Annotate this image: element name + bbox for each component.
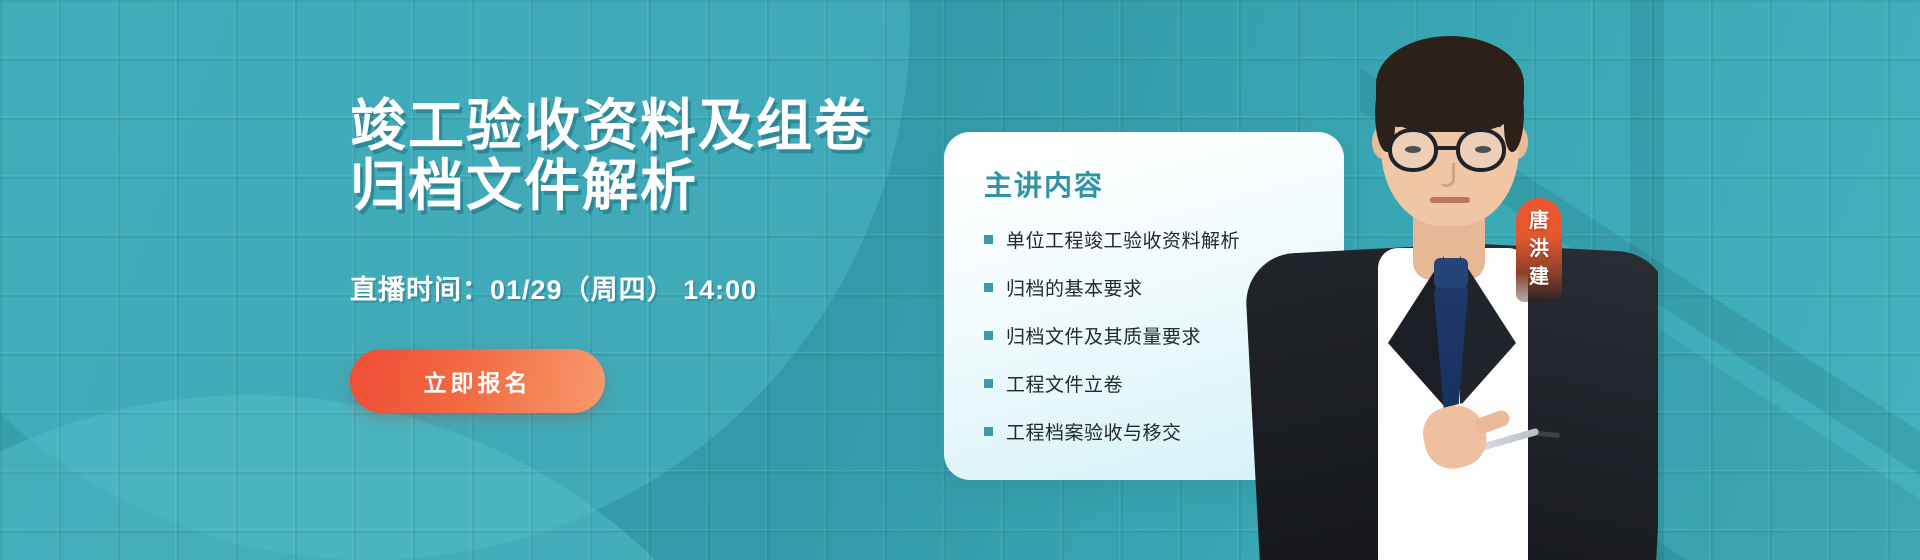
name-char: 唐 [1529,207,1549,235]
presenter-name-badge: 唐 洪 建 [1516,198,1562,302]
bullet-square-icon [984,379,993,388]
list-item-label: 工程档案验收与移交 [1006,418,1182,445]
glasses-lens-right [1456,128,1506,172]
list-item-label: 工程文件立卷 [1006,370,1123,397]
register-button[interactable]: 立即报名 [350,349,605,413]
presenter-nose [1441,163,1455,187]
name-char: 建 [1529,263,1549,291]
webinar-banner: 竣工验收资料及组卷 归档文件解析 直播时间：01/29（周四） 14:00 立即… [0,0,1920,560]
name-char: 洪 [1529,235,1549,263]
bullet-square-icon [984,331,993,340]
presenter-mouth [1430,197,1470,203]
page-title: 竣工验收资料及组卷 归档文件解析 [350,96,910,216]
glasses-lens-left [1388,128,1438,172]
list-item-label: 归档的基本要求 [1006,274,1143,301]
headline-block: 竣工验收资料及组卷 归档文件解析 直播时间：01/29（周四） 14:00 立即… [350,96,910,413]
schedule-text: 直播时间：01/29（周四） 14:00 [350,268,910,307]
bullet-square-icon [984,235,993,244]
presenter-photo [1238,0,1658,560]
necktie-knot [1434,258,1468,288]
list-item-label: 单位工程竣工验收资料解析 [1006,226,1240,253]
bullet-square-icon [984,283,993,292]
glasses-bridge [1437,146,1458,150]
presenter-hair [1376,36,1524,132]
bullet-square-icon [984,427,993,436]
list-item-label: 归档文件及其质量要求 [1006,322,1201,349]
